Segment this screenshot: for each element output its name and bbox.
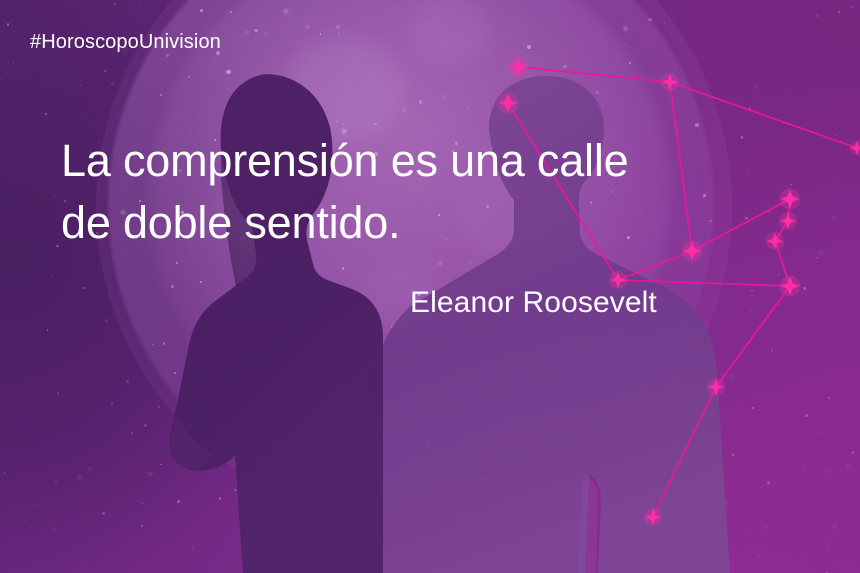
- constellation-star: [644, 508, 662, 526]
- constellation-line: [518, 67, 670, 82]
- quote-line-1: La comprensión es una calle: [61, 130, 701, 192]
- constellation-star: [508, 57, 529, 78]
- constellation-star: [780, 276, 801, 297]
- constellation-line: [618, 251, 692, 280]
- constellation-star: [707, 378, 725, 396]
- constellation-star: [779, 212, 797, 230]
- constellation-star: [498, 93, 519, 114]
- quote-text: La comprensión es una calle de doble sen…: [61, 130, 701, 254]
- constellation-star: [766, 232, 784, 250]
- constellation-line: [653, 387, 716, 517]
- constellation-star: [780, 189, 801, 210]
- constellation-star: [661, 73, 679, 91]
- constellation-star: [850, 141, 860, 156]
- quote-card: #HoroscopoUnivision La comprensión es un…: [0, 0, 860, 573]
- quote-line-2: de doble sentido.: [61, 192, 701, 254]
- hashtag-label: #HoroscopoUnivision: [30, 31, 221, 54]
- quote-attribution: Eleanor Roosevelt: [410, 286, 657, 320]
- constellation-line: [716, 286, 790, 387]
